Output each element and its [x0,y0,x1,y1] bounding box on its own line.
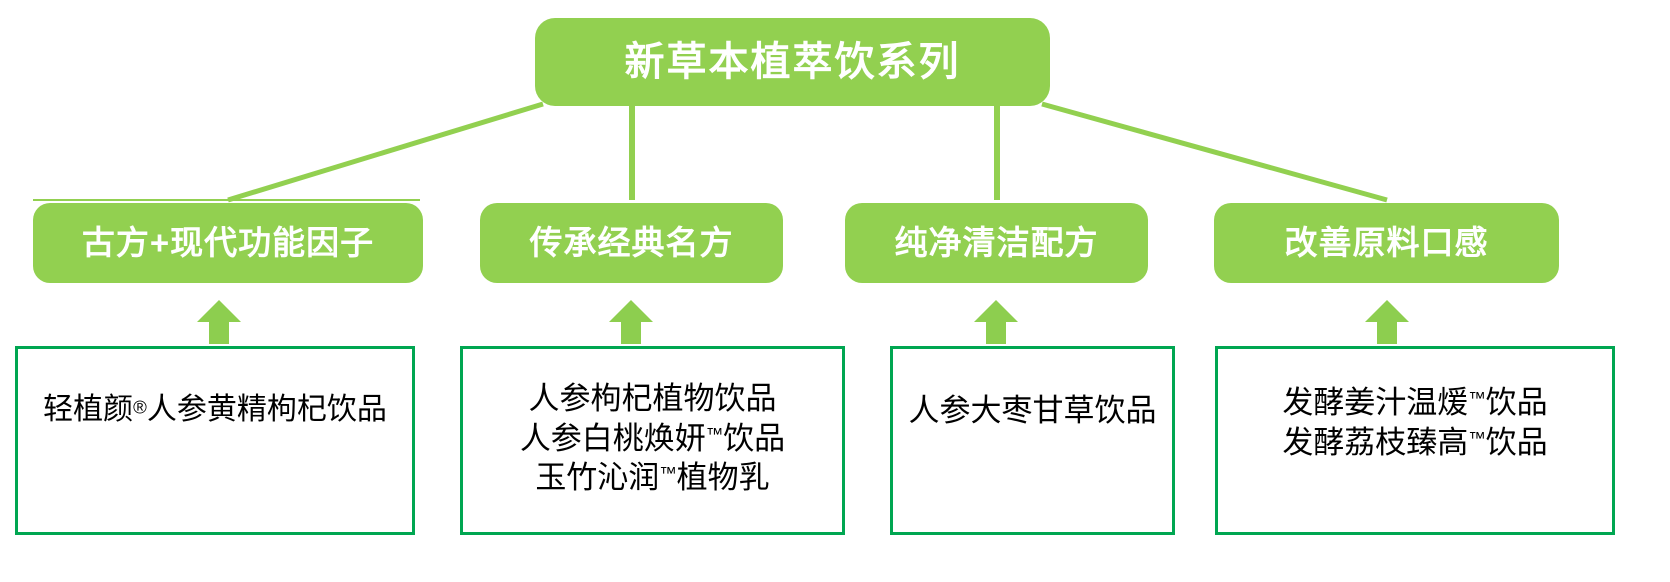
product-box-1[interactable]: 轻植颜®人参黄精枸杞饮品 [15,346,415,535]
connector-root-to-category-1 [228,104,543,200]
root-node-label: 新草本植萃饮系列 [625,40,961,84]
category-node-4[interactable]: 改善原料口感 [1214,203,1559,283]
trademark-mark: ™ [659,463,676,483]
root-node[interactable]: 新草本植萃饮系列 [535,18,1050,106]
registered-mark: ® [133,396,147,417]
product-name-line: 玉竹沁润™植物乳 [520,458,785,498]
arrow-up-icon-2 [608,298,654,344]
product-name-line: 发酵姜汁温煖™饮品 [1282,383,1547,423]
category-node-1-label: 古方+现代功能因子 [82,225,374,261]
product-name-line: 人参白桃焕妍™饮品 [520,419,785,459]
product-list-1: 轻植颜®人参黄精枸杞饮品 [43,391,387,429]
arrow-up-icon-1 [196,298,242,344]
category-node-4-label: 改善原料口感 [1285,225,1489,261]
category-node-2[interactable]: 传承经典名方 [480,203,783,283]
diagram-canvas: 新草本植萃饮系列 古方+现代功能因子 传承经典名方 纯净清洁配方 改善原料口感 … [0,0,1670,582]
arrow-up-icon-4 [1364,298,1410,344]
product-list-3: 人参大枣甘草饮品 [909,391,1157,431]
product-list-2: 人参枸杞植物饮品人参白桃焕妍™饮品玉竹沁润™植物乳 [520,379,785,498]
category-node-3-label: 纯净清洁配方 [895,225,1099,261]
connector-root-to-category-4 [1042,104,1387,200]
product-name-line: 轻植颜®人参黄精枸杞饮品 [43,391,387,429]
category-node-1[interactable]: 古方+现代功能因子 [33,203,423,283]
trademark-mark: ™ [1468,388,1485,408]
category-node-3[interactable]: 纯净清洁配方 [845,203,1148,283]
product-box-2[interactable]: 人参枸杞植物饮品人参白桃焕妍™饮品玉竹沁润™植物乳 [460,346,845,535]
product-box-4[interactable]: 发酵姜汁温煖™饮品发酵荔枝臻高™饮品 [1215,346,1615,535]
product-list-4: 发酵姜汁温煖™饮品发酵荔枝臻高™饮品 [1282,383,1547,462]
product-name-line: 发酵荔枝臻高™饮品 [1282,423,1547,463]
product-box-3[interactable]: 人参大枣甘草饮品 [890,346,1175,535]
arrow-up-icon-3 [973,298,1019,344]
product-name-line: 人参枸杞植物饮品 [520,379,785,419]
product-name-line: 人参大枣甘草饮品 [909,391,1157,431]
trademark-mark: ™ [1468,428,1485,448]
category-node-2-label: 传承经典名方 [530,225,734,261]
trademark-mark: ™ [706,424,723,444]
